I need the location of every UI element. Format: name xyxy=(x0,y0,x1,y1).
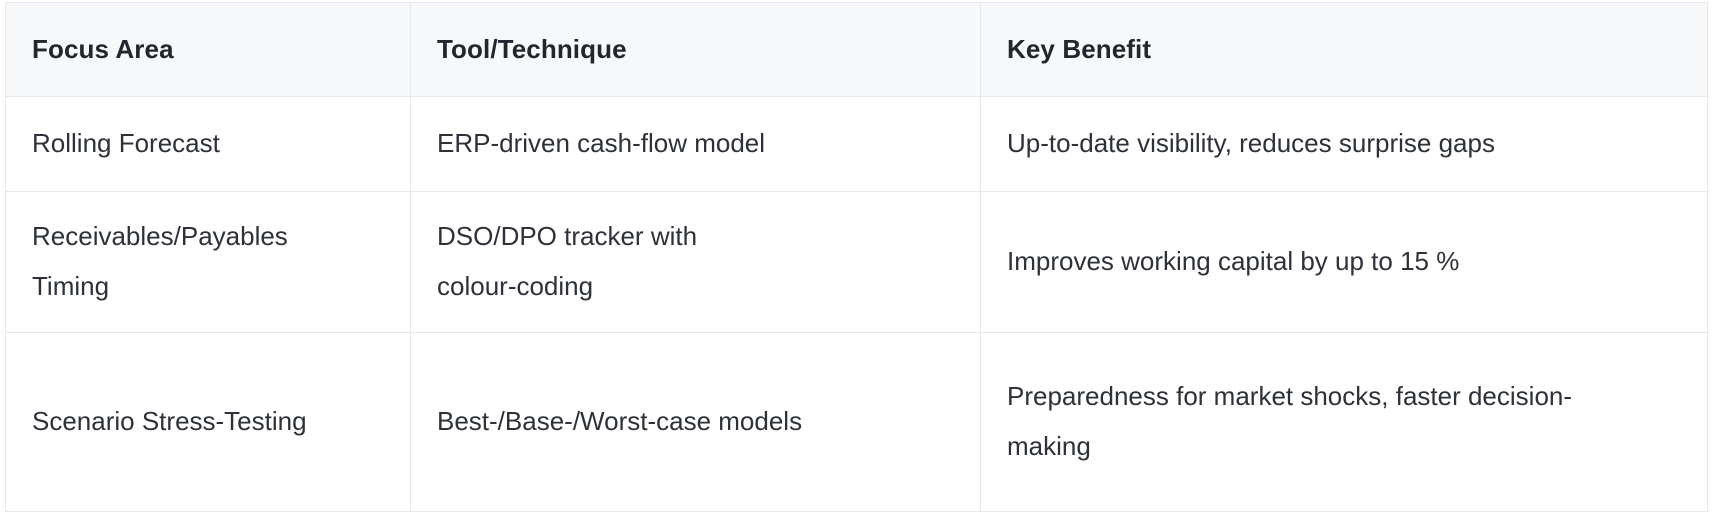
cell-tool-technique: ERP-driven cash-flow model xyxy=(411,97,981,192)
cell-key-benefit-text: Preparedness for market shocks, faster d… xyxy=(1007,372,1627,472)
cell-key-benefit-text: Up-to-date visibility, reduces surprise … xyxy=(1007,119,1681,169)
table-row: Scenario Stress-Testing Best-/Base-/Wors… xyxy=(6,333,1708,512)
cell-key-benefit-text: Improves working capital by up to 15 % xyxy=(1007,237,1681,287)
cell-focus-area: Scenario Stress-Testing xyxy=(6,333,411,512)
comparison-table: Focus Area Tool/Technique Key Benefit Ro… xyxy=(5,2,1708,512)
column-header-key-benefit-label: Key Benefit xyxy=(1007,34,1681,65)
column-header-tool-technique-label: Tool/Technique xyxy=(437,34,954,65)
cell-key-benefit: Improves working capital by up to 15 % xyxy=(981,192,1708,333)
cell-focus-area: Receivables/Payables Timing xyxy=(6,192,411,333)
cell-key-benefit: Preparedness for market shocks, faster d… xyxy=(981,333,1708,512)
cell-tool-technique-text: ERP-driven cash-flow model xyxy=(437,119,954,169)
table-container: Focus Area Tool/Technique Key Benefit Ro… xyxy=(0,0,1712,512)
table-header-row: Focus Area Tool/Technique Key Benefit xyxy=(6,3,1708,97)
column-header-key-benefit: Key Benefit xyxy=(981,3,1708,97)
column-header-tool-technique: Tool/Technique xyxy=(411,3,981,97)
cell-focus-area-text: Receivables/Payables Timing xyxy=(32,212,362,312)
table-row: Receivables/Payables Timing DSO/DPO trac… xyxy=(6,192,1708,333)
table-header: Focus Area Tool/Technique Key Benefit xyxy=(6,3,1708,97)
cell-tool-technique: DSO/DPO tracker with colour-coding xyxy=(411,192,981,333)
cell-tool-technique-text: DSO/DPO tracker with colour-coding xyxy=(437,212,767,312)
cell-key-benefit: Up-to-date visibility, reduces surprise … xyxy=(981,97,1708,192)
column-header-focus-area: Focus Area xyxy=(6,3,411,97)
cell-focus-area-text: Rolling Forecast xyxy=(32,119,384,169)
column-header-focus-area-label: Focus Area xyxy=(32,34,384,65)
table-row: Rolling Forecast ERP-driven cash-flow mo… xyxy=(6,97,1708,192)
cell-tool-technique-text: Best-/Base-/Worst-case models xyxy=(437,397,954,447)
table-body: Rolling Forecast ERP-driven cash-flow mo… xyxy=(6,97,1708,512)
cell-focus-area: Rolling Forecast xyxy=(6,97,411,192)
cell-focus-area-text: Scenario Stress-Testing xyxy=(32,397,384,447)
cell-tool-technique: Best-/Base-/Worst-case models xyxy=(411,333,981,512)
